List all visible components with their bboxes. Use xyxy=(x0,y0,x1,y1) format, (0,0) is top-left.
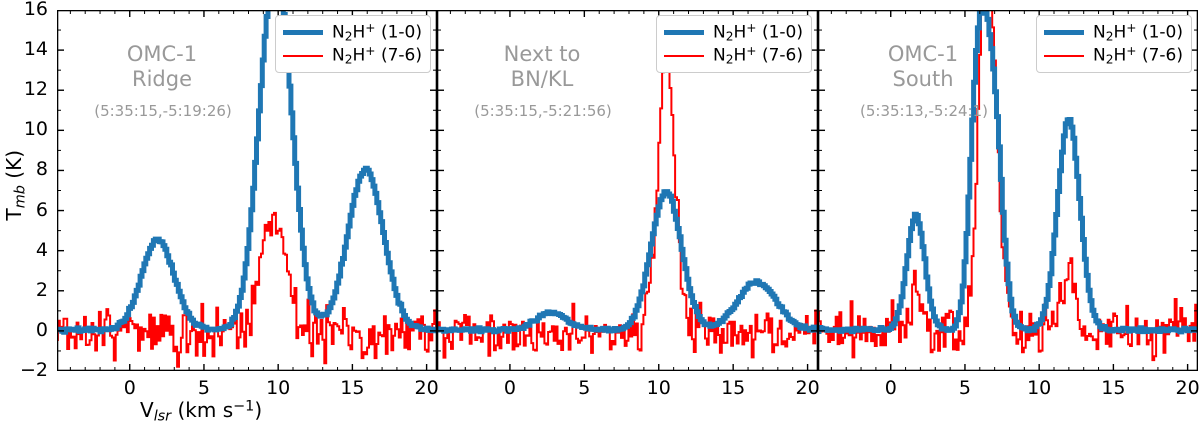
legend-label-sup: + xyxy=(746,21,756,35)
y-tick-label: 14 xyxy=(14,38,48,60)
legend: N2H+ (1-0)N2H+ (7-6) xyxy=(656,15,812,73)
legend-label-transition: (1-0) xyxy=(376,23,422,43)
legend-label-transition: (1-0) xyxy=(1137,23,1183,43)
x-tick-label: 5 xyxy=(184,377,224,399)
spectrum-line-n2hp-1-0 xyxy=(437,192,818,332)
panel-title-line1: Next to xyxy=(477,42,607,67)
x-tick-label: 10 xyxy=(258,377,298,399)
x-tick-label: 10 xyxy=(639,377,679,399)
panel-coordinates: (5:35:15,-5:21:56) xyxy=(465,102,621,120)
legend-label: N2H+ (7-6) xyxy=(1093,44,1183,67)
panel-title-line2: BN/KL xyxy=(477,67,607,92)
legend-label-h: H xyxy=(1114,46,1127,66)
legend-label-sub: 2 xyxy=(1106,30,1114,44)
legend-label-sup: + xyxy=(1126,21,1136,35)
x-tick-label: 5 xyxy=(945,377,985,399)
legend-label-n: N xyxy=(1093,46,1106,66)
legend-label: N2H+ (1-0) xyxy=(1093,21,1183,44)
legend-line-swatch xyxy=(1044,55,1084,57)
legend-label-sup: + xyxy=(1126,44,1136,58)
y-tick-label: 8 xyxy=(14,158,48,180)
y-tick-label: 6 xyxy=(14,199,48,221)
panel-title: OMC-1South xyxy=(858,42,988,92)
spectra-figure: Tmb (K) Vlsr (km s−1) −20246810121416 05… xyxy=(0,0,1200,432)
legend-label-sup: + xyxy=(746,44,756,58)
legend-label-h: H xyxy=(1114,23,1127,43)
legend-label-transition: (7-6) xyxy=(757,46,803,66)
x-axis-label-main: V xyxy=(140,398,154,422)
legend-label-h: H xyxy=(353,46,366,66)
panel-next-to-bnkl: Next toBN/KL(5:35:15,-5:21:56)N2H+ (1-0)… xyxy=(437,10,818,371)
legend-line-swatch xyxy=(664,30,704,35)
y-tick-label: 10 xyxy=(14,118,48,140)
legend-label-sub: 2 xyxy=(345,30,353,44)
x-tick-label: 20 xyxy=(1168,377,1200,399)
legend-line-swatch xyxy=(1044,30,1084,35)
x-tick-label: 15 xyxy=(1093,377,1133,399)
legend-label-transition: (1-0) xyxy=(757,23,803,43)
legend-label: N2H+ (1-0) xyxy=(713,21,803,44)
legend-label-sub: 2 xyxy=(726,53,734,67)
legend-label-transition: (7-6) xyxy=(1137,46,1183,66)
x-tick-label: 20 xyxy=(407,377,447,399)
x-tick-label: 5 xyxy=(564,377,604,399)
panel-title-line2: South xyxy=(858,67,988,92)
legend: N2H+ (1-0)N2H+ (7-6) xyxy=(1036,15,1192,73)
panel-omc1-ridge: OMC-1Ridge(5:35:15,-5:19:26)N2H+ (1-0)N2… xyxy=(57,10,437,371)
legend-label-h: H xyxy=(734,46,747,66)
x-axis-label-sup: −1 xyxy=(233,399,254,415)
legend-label-n: N xyxy=(1093,23,1106,43)
x-axis-label-unit: (km s xyxy=(171,398,233,422)
legend-label-h: H xyxy=(353,23,366,43)
legend-label: N2H+ (7-6) xyxy=(713,44,803,67)
x-axis-label-sub: lsr xyxy=(154,409,171,425)
legend-label-n: N xyxy=(332,23,345,43)
legend-label: N2H+ (1-0) xyxy=(332,21,422,44)
spectrum-line-n2hp-7-6 xyxy=(437,49,818,358)
legend-entry-n2hp-1-0[interactable]: N2H+ (1-0) xyxy=(664,21,803,44)
panel-title: OMC-1Ridge xyxy=(97,42,227,92)
legend-line-swatch xyxy=(283,30,323,35)
legend-entry-n2hp-7-6[interactable]: N2H+ (7-6) xyxy=(1044,44,1183,67)
legend-label-sub: 2 xyxy=(726,30,734,44)
x-tick-label: 10 xyxy=(1019,377,1059,399)
y-tick-label: 12 xyxy=(14,78,48,100)
x-tick-label: 15 xyxy=(332,377,372,399)
legend-label-h: H xyxy=(734,23,747,43)
legend-label-sup: + xyxy=(365,21,375,35)
legend-label-n: N xyxy=(332,46,345,66)
legend-entry-n2hp-1-0[interactable]: N2H+ (1-0) xyxy=(283,21,422,44)
x-axis-label-tail: ) xyxy=(254,398,262,422)
x-tick-label: 20 xyxy=(788,377,828,399)
legend-label-n: N xyxy=(713,46,726,66)
legend-label-n: N xyxy=(713,23,726,43)
x-axis-label: Vlsr (km s−1) xyxy=(140,398,262,425)
x-tick-label: 0 xyxy=(871,377,911,399)
panel-coordinates: (5:35:13,-5:24:1) xyxy=(846,102,1002,120)
legend-entry-n2hp-7-6[interactable]: N2H+ (7-6) xyxy=(664,44,803,67)
x-tick-label: 0 xyxy=(490,377,530,399)
legend-entry-n2hp-1-0[interactable]: N2H+ (1-0) xyxy=(1044,21,1183,44)
panel-title-line1: OMC-1 xyxy=(858,42,988,67)
x-tick-label: 0 xyxy=(110,377,150,399)
legend-label-transition: (7-6) xyxy=(376,46,422,66)
legend-label-sup: + xyxy=(365,44,375,58)
legend-label-sub: 2 xyxy=(345,53,353,67)
y-tick-label: 0 xyxy=(14,319,48,341)
legend-line-swatch xyxy=(283,55,323,57)
x-tick-label: 15 xyxy=(713,377,753,399)
legend-label: N2H+ (7-6) xyxy=(332,44,422,67)
legend-label-sub: 2 xyxy=(1106,53,1114,67)
y-tick-label: −2 xyxy=(14,359,48,381)
y-tick-label: 4 xyxy=(14,239,48,261)
panel-omc1-south: OMC-1South(5:35:13,-5:24:1)N2H+ (1-0)N2H… xyxy=(818,10,1198,371)
legend-entry-n2hp-7-6[interactable]: N2H+ (7-6) xyxy=(283,44,422,67)
panel-title: Next toBN/KL xyxy=(477,42,607,92)
panel-title-line2: Ridge xyxy=(97,67,227,92)
y-tick-label: 2 xyxy=(14,279,48,301)
y-tick-label: 16 xyxy=(14,0,48,20)
legend-line-swatch xyxy=(664,55,704,57)
legend: N2H+ (1-0)N2H+ (7-6) xyxy=(275,15,431,73)
panel-title-line1: OMC-1 xyxy=(97,42,227,67)
panel-coordinates: (5:35:15,-5:19:26) xyxy=(85,102,241,120)
